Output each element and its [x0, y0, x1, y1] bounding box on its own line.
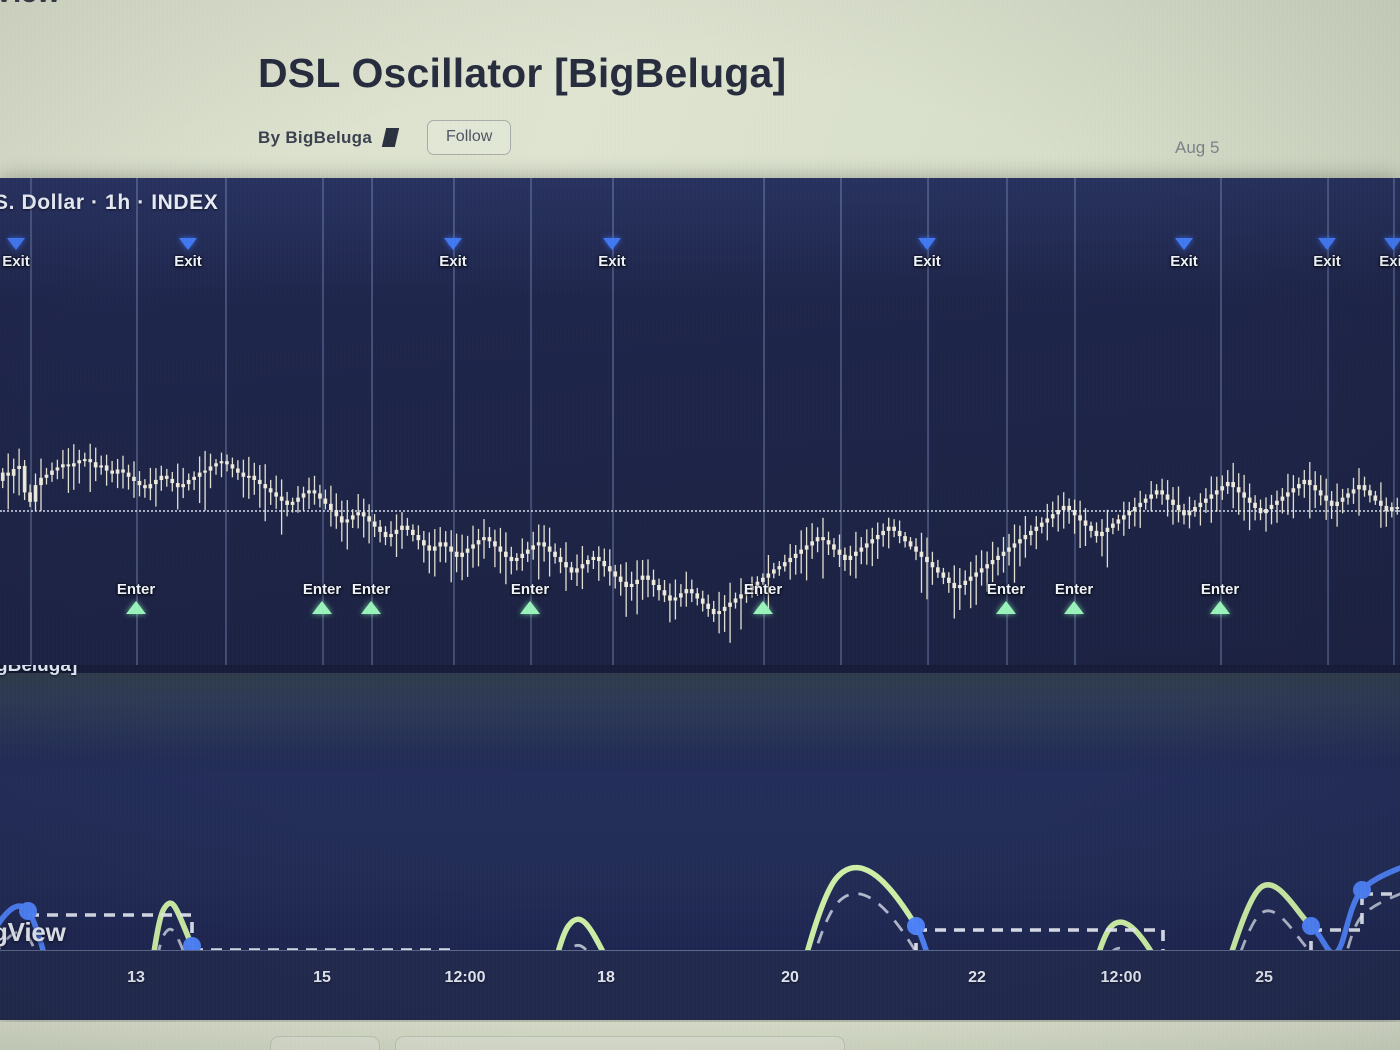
exit-marker: Exit [567, 238, 657, 269]
enter-marker-label: Enter [485, 582, 575, 597]
triangle-down-icon [444, 238, 462, 250]
enter-marker: Enter [326, 582, 416, 614]
triangle-up-icon [753, 601, 773, 614]
triangle-up-icon [126, 601, 146, 614]
exit-marker: Exit [0, 238, 61, 269]
top-navigation-bar: View [0, 0, 1400, 20]
tradingview-logo-cut[interactable]: View [0, 0, 60, 10]
tradingview-watermark: gView [0, 917, 66, 948]
symbol-label: S. Dollar · 1h · INDEX [0, 191, 218, 215]
enter-marker: Enter [485, 582, 575, 614]
exit-marker-label: Exit [1348, 254, 1400, 269]
oscillator-label: gBeluga] [0, 665, 77, 677]
price-pane[interactable]: S. Dollar · 1h · INDEX ExitExitExitExitE… [0, 178, 1400, 665]
exit-marker-label: Exit [408, 254, 498, 269]
byline: By BigBeluga Follow [258, 120, 511, 160]
time-axis[interactable]: 131512:0018202212:0025 [0, 950, 1400, 1020]
exit-marker: Exit [143, 238, 233, 269]
enter-marker-label: Enter [1175, 582, 1265, 597]
time-axis-tick: 12:00 [445, 969, 486, 987]
exit-marker: Exit [1348, 238, 1400, 269]
triangle-down-icon [7, 238, 25, 250]
enter-marker: Enter [91, 582, 181, 614]
triangle-up-icon [1064, 601, 1084, 614]
publish-date: Aug 5 [1175, 138, 1219, 158]
triangle-up-icon [361, 601, 381, 614]
oscillator-pane[interactable]: gBeluga] gView [0, 665, 1400, 950]
exit-marker: Exit [882, 238, 972, 269]
ghost-card-right [395, 1036, 845, 1050]
triangle-up-icon [996, 601, 1016, 614]
exit-marker-label: Exit [143, 254, 233, 269]
time-axis-tick: 25 [1255, 969, 1273, 987]
triangle-up-icon [520, 601, 540, 614]
enter-marker-label: Enter [91, 582, 181, 597]
ghost-card-left [270, 1036, 380, 1050]
time-axis-tick: 22 [968, 969, 986, 987]
author-link[interactable]: By BigBeluga [258, 128, 372, 148]
exit-marker: Exit [408, 238, 498, 269]
triangle-down-icon [1384, 238, 1400, 250]
enter-marker-label: Enter [326, 582, 416, 597]
exit-marker-label: Exit [882, 254, 972, 269]
screen-photo-surface: View DSL Oscillator [BigBeluga] By BigBe… [0, 0, 1400, 1050]
triangle-down-icon [179, 238, 197, 250]
exit-marker: Exit [1139, 238, 1229, 269]
exit-marker-label: Exit [567, 254, 657, 269]
enter-marker: Enter [1175, 582, 1265, 614]
chart-widget[interactable]: S. Dollar · 1h · INDEX ExitExitExitExitE… [0, 178, 1400, 1020]
script-header: DSL Oscillator [BigBeluga] By BigBeluga … [0, 18, 1400, 170]
time-axis-tick: 15 [313, 969, 331, 987]
time-axis-tick: 12:00 [1101, 969, 1142, 987]
triangle-down-icon [918, 238, 936, 250]
enter-marker: Enter [1029, 582, 1119, 614]
exit-marker-label: Exit [0, 254, 61, 269]
triangle-down-icon [1175, 238, 1193, 250]
oscillator-series [0, 665, 1400, 950]
triangle-down-icon [1318, 238, 1336, 250]
enter-marker-label: Enter [1029, 582, 1119, 597]
time-axis-tick: 18 [597, 969, 615, 987]
enter-marker-label: Enter [718, 582, 808, 597]
page-bottom-strip [0, 1022, 1400, 1050]
triangle-down-icon [603, 238, 621, 250]
triangle-up-icon [1210, 601, 1230, 614]
enter-marker: Enter [718, 582, 808, 614]
time-axis-tick: 20 [781, 969, 799, 987]
follow-button[interactable]: Follow [427, 120, 511, 155]
page-title: DSL Oscillator [BigBeluga] [258, 50, 786, 97]
time-axis-tick: 13 [127, 969, 145, 987]
author-badge-icon [381, 128, 398, 147]
exit-marker-label: Exit [1139, 254, 1229, 269]
